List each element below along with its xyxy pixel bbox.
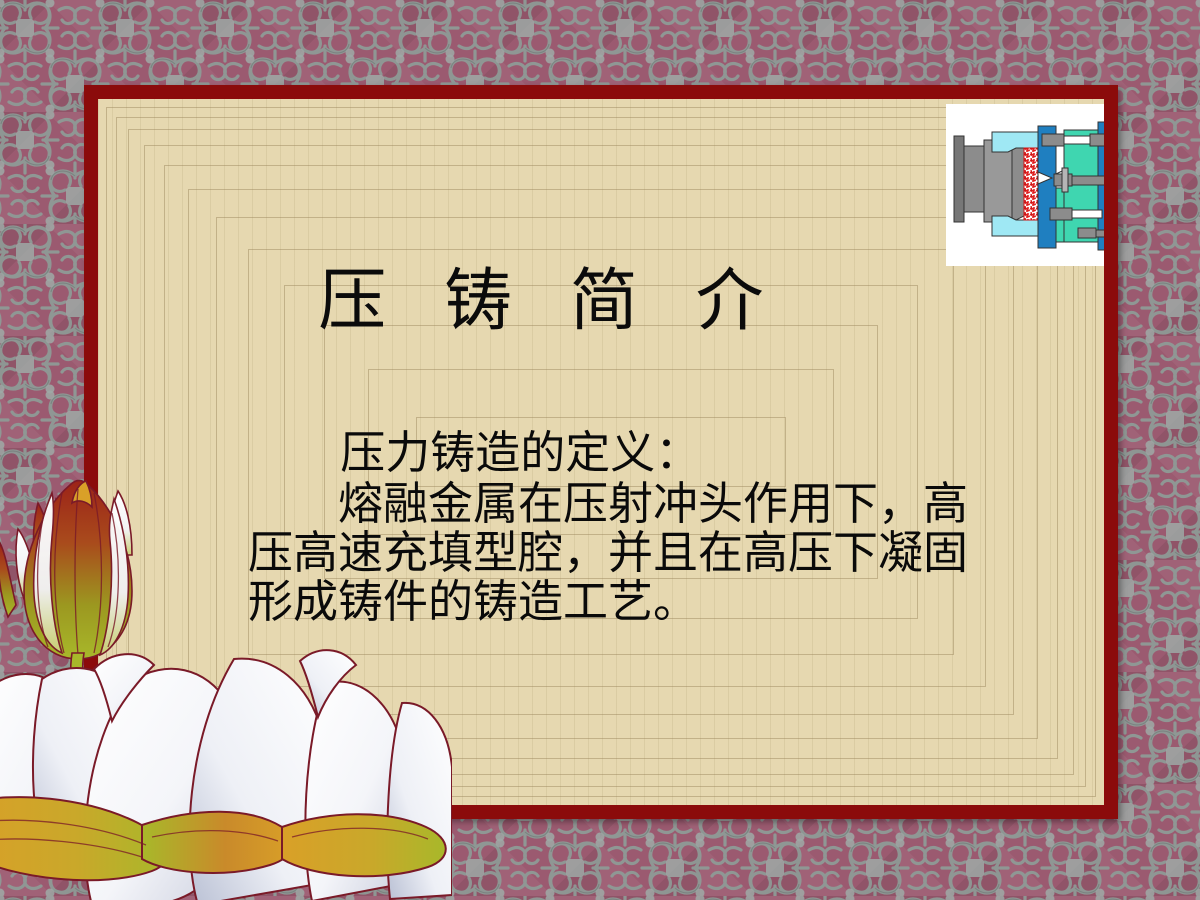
slide-title: 压 铸 简 介 [98, 267, 1104, 335]
slide-body: 压力铸造的定义： 熔融金属在压射冲头作用下，高压高速充填型腔，并且在高压下凝固形… [248, 429, 988, 627]
content-panel: 压 铸 简 介 压力铸造的定义： 熔融金属在压射冲头作用下，高压高速充填型腔，并… [84, 85, 1118, 819]
slide-canvas: 压 铸 简 介 压力铸造的定义： 熔融金属在压射冲头作用下，高压高速充填型腔，并… [0, 0, 1200, 900]
body-paragraph: 熔融金属在压射冲头作用下，高压高速充填型腔，并且在高压下凝固形成铸件的铸造工艺。 [248, 480, 988, 627]
die-casting-machine-image [946, 104, 1104, 266]
panel-inner-surface: 压 铸 简 介 压力铸造的定义： 熔融金属在压射冲头作用下，高压高速充填型腔，并… [98, 99, 1104, 805]
die-casting-machine-diagram-icon [946, 104, 1104, 266]
body-heading: 压力铸造的定义： [248, 429, 988, 478]
